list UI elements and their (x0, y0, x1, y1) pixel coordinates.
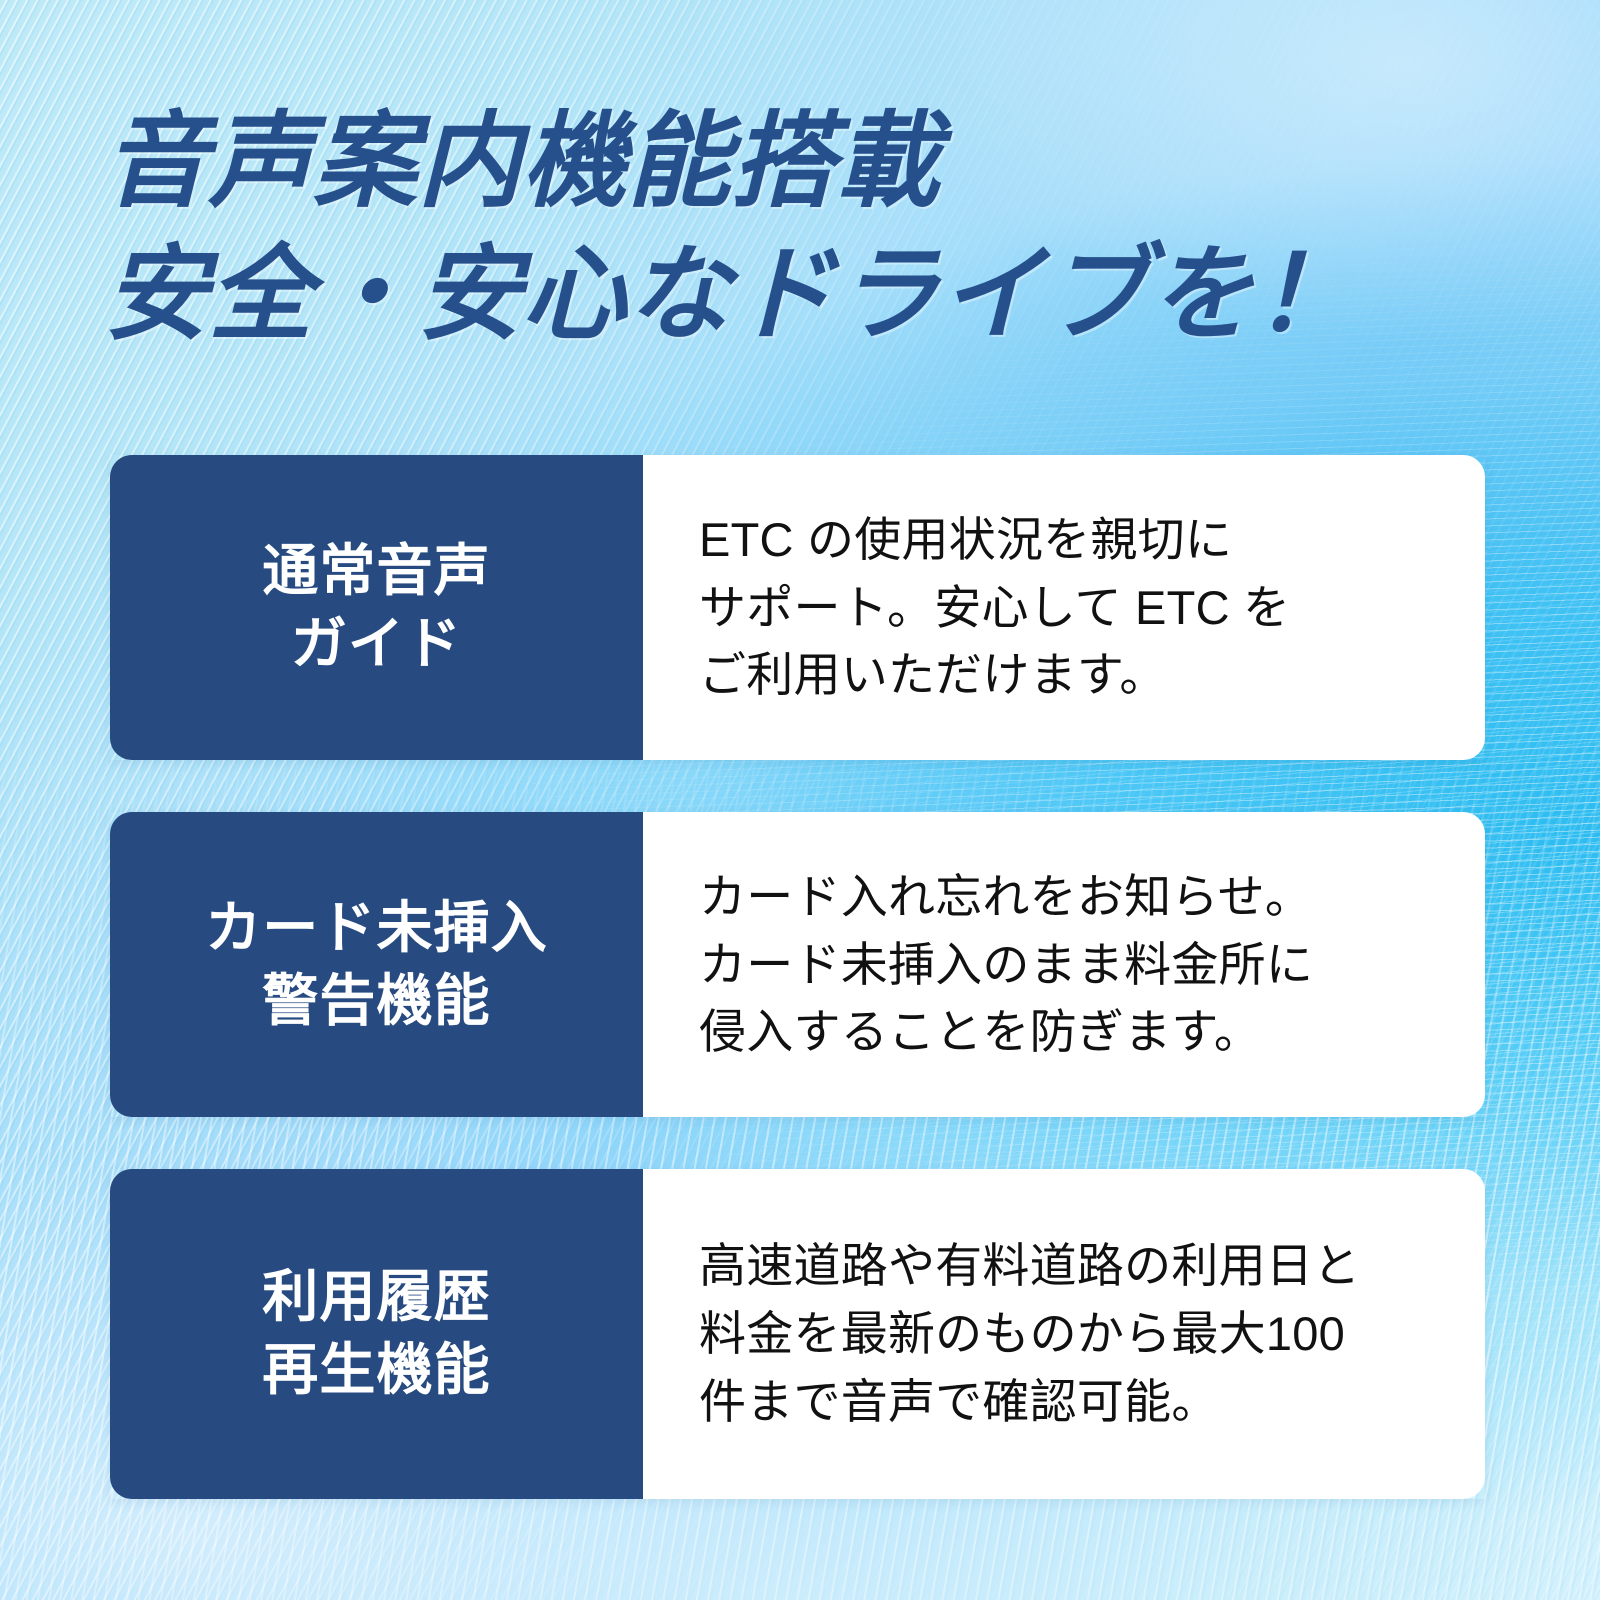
feature-card-body-line: カード未挿入のまま料金所に (699, 931, 1445, 999)
feature-card-label-line: 通常音声 (262, 535, 490, 608)
page-title: 音声案内機能搭載 安全・安心なドライブを！ (104, 96, 1534, 362)
feature-card-label-line: 再生機能 (262, 1334, 490, 1407)
feature-card-list: 通常音声 ガイド ETC の使用状況を親切に サポート。安心して ETC を ご… (110, 455, 1485, 1499)
feature-card-label-panel: カード未挿入 警告機能 (110, 812, 643, 1117)
feature-card: 通常音声 ガイド ETC の使用状況を親切に サポート。安心して ETC を ご… (110, 455, 1485, 760)
feature-card-body-panel: 高速道路や有料道路の利用日と 料金を最新のものから最大100 件まで音声で確認可… (643, 1169, 1485, 1499)
feature-card-body-panel: カード入れ忘れをお知らせ。 カード未挿入のまま料金所に 侵入することを防ぎます。 (643, 812, 1485, 1117)
feature-card-body-line: カード入れ忘れをお知らせ。 (699, 863, 1445, 931)
headline-line-2: 安全・安心なドライブを！ (104, 229, 1534, 362)
feature-card-body-line: ETC の使用状況を親切に (699, 506, 1445, 574)
feature-card-label-line: カード未挿入 (205, 892, 548, 965)
feature-card-body-line: 高速道路や有料道路の利用日と (699, 1232, 1445, 1300)
feature-card-label-line: ガイド (291, 608, 462, 681)
feature-card: カード未挿入 警告機能 カード入れ忘れをお知らせ。 カード未挿入のまま料金所に … (110, 812, 1485, 1117)
feature-card-body-line: サポート。安心して ETC を (699, 574, 1445, 642)
feature-card-label-line: 警告機能 (262, 965, 490, 1038)
feature-card-body-line: 侵入することを防ぎます。 (699, 998, 1445, 1066)
feature-card-label-panel: 通常音声 ガイド (110, 455, 643, 760)
feature-card-body-panel: ETC の使用状況を親切に サポート。安心して ETC を ご利用いただけます。 (643, 455, 1485, 760)
feature-card: 利用履歴 再生機能 高速道路や有料道路の利用日と 料金を最新のものから最大100… (110, 1169, 1485, 1499)
feature-card-label-line: 利用履歴 (262, 1261, 490, 1334)
promo-poster: 音声案内機能搭載 安全・安心なドライブを！ 通常音声 ガイド ETC の使用状況… (0, 0, 1600, 1600)
headline-line-1: 音声案内機能搭載 (104, 96, 1534, 229)
feature-card-body-line: 件まで音声で確認可能。 (699, 1368, 1445, 1436)
feature-card-body-line: ご利用いただけます。 (699, 641, 1445, 709)
feature-card-label-panel: 利用履歴 再生機能 (110, 1169, 643, 1499)
feature-card-body-line: 料金を最新のものから最大100 (699, 1300, 1445, 1368)
